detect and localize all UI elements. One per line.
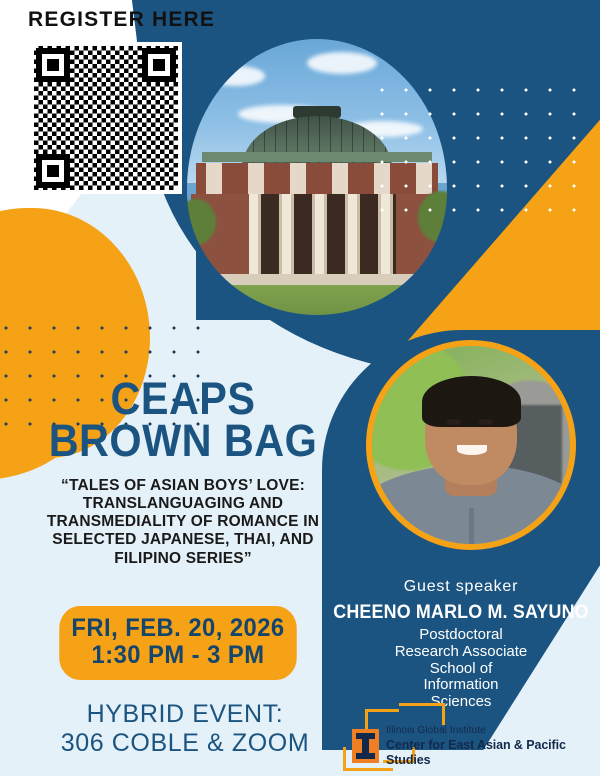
event-flyer: REGISTER HERE CEAPS BROWN BAG “TALES OF … <box>0 0 600 776</box>
stripe-bar-4 <box>241 0 251 26</box>
speaker-role-line-1: Postdoctoral <box>322 627 600 644</box>
speaker-affiliation: Postdoctoral Research Associate School o… <box>322 627 600 711</box>
dot-grid-top <box>370 78 585 213</box>
headshot-smile <box>457 445 487 455</box>
qr-code-icon[interactable] <box>30 42 182 194</box>
headshot-eye-right <box>479 419 493 425</box>
logo-text: Illinois Global Institute Center for Eas… <box>386 725 600 768</box>
headshot-hair <box>422 376 521 427</box>
register-here-label: REGISTER HERE <box>28 8 215 32</box>
qr-finder-top-right <box>142 48 176 82</box>
title-block: CEAPS BROWN BAG “TALES OF ASIAN BOYS’ LO… <box>18 378 348 568</box>
speaker-role-line-3: School of <box>322 661 600 678</box>
date-time-badge: FRI, FEB. 20, 2026 1:30 PM - 3 PM <box>59 606 297 680</box>
hybrid-label: HYBRID EVENT: <box>20 700 350 729</box>
guest-speaker-label: Guest speaker <box>322 578 600 596</box>
qr-code-pattern <box>34 46 178 190</box>
cloud-2 <box>307 52 377 74</box>
block-i-stem <box>362 733 369 759</box>
event-date: FRI, FEB. 20, 2026 <box>59 615 297 642</box>
title-line-2: BROWN BAG <box>31 420 335 462</box>
location-block: HYBRID EVENT: 306 COBLE & ZOOM <box>20 700 350 758</box>
lawn <box>186 285 448 316</box>
stripe-bar-3 <box>224 0 234 38</box>
headshot-shirt-placket <box>469 508 474 544</box>
illinois-logo[interactable]: Illinois Global Institute Center for Eas… <box>352 725 600 768</box>
cloud-1 <box>207 66 265 86</box>
speaker-headshot <box>366 340 576 550</box>
speaker-name: CHEENO MARLO M. SAYUNO <box>330 602 591 624</box>
bracket-top-right <box>399 703 445 725</box>
headshot-eye-left <box>447 419 461 425</box>
event-time: 1:30 PM - 3 PM <box>59 642 297 669</box>
org-parent-name: Illinois Global Institute <box>386 725 600 738</box>
org-center-name: Center for East Asian & Pacific Studies <box>386 738 600 768</box>
speaker-role-line-4: Information <box>322 677 600 694</box>
event-title: CEAPS BROWN BAG <box>31 378 335 463</box>
talk-subtitle: “TALES OF ASIAN BOYS’ LOVE: TRANSLANGUAG… <box>18 477 348 568</box>
qr-finder-bottom-left <box>36 154 70 188</box>
illinois-block-i-icon <box>352 729 379 763</box>
room-label: 306 COBLE & ZOOM <box>20 729 350 758</box>
qr-finder-top-left <box>36 48 70 82</box>
speaker-role-line-2: Research Associate <box>322 644 600 661</box>
